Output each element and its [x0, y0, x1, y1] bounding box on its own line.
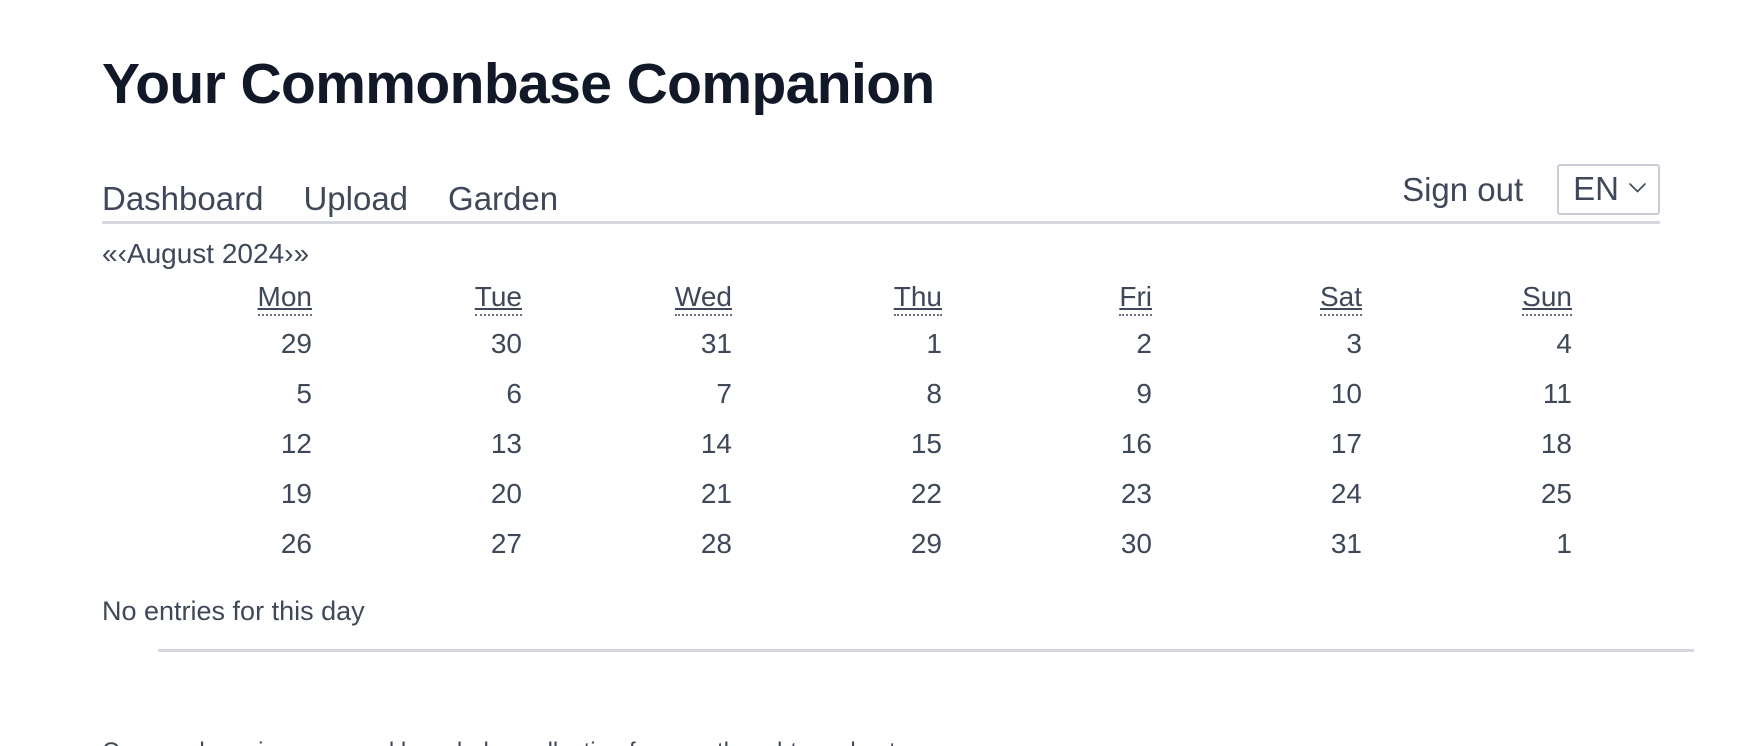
calendar-day-cell[interactable]: 6 [312, 369, 522, 419]
calendar-week-row: 12 13 14 15 16 17 18 [102, 419, 1572, 469]
calendar-weekday-fri: Fri [942, 281, 1152, 319]
calendar-weekday-tue: Tue [312, 281, 522, 319]
calendar-weekday-sun: Sun [1362, 281, 1572, 319]
calendar-day-cell[interactable]: 18 [1362, 419, 1572, 469]
prev-month-button[interactable]: ‹ [118, 238, 127, 269]
calendar-day-cell[interactable]: 17 [1152, 419, 1362, 469]
calendar-day-cell[interactable]: 31 [1152, 519, 1362, 569]
calendar-day-cell[interactable]: 12 [102, 419, 312, 469]
nav-links-group: Dashboard Upload Garden [102, 182, 558, 215]
chevron-down-icon [1629, 183, 1646, 193]
calendar-day-cell[interactable]: 30 [312, 319, 522, 369]
calendar-body: 29 30 31 1 2 3 4 5 6 7 8 9 10 11 12 13 1… [102, 319, 1572, 569]
calendar-day-cell[interactable]: 31 [522, 319, 732, 369]
calendar-day-cell[interactable]: 16 [942, 419, 1152, 469]
calendar-day-cell[interactable]: 23 [942, 469, 1152, 519]
calendar-day-cell[interactable]: 22 [732, 469, 942, 519]
calendar-header: Mon Tue Wed Thu Fri Sat Sun [102, 281, 1572, 319]
calendar-day-cell[interactable]: 20 [312, 469, 522, 519]
calendar-day-cell[interactable]: 14 [522, 419, 732, 469]
language-select[interactable]: EN [1557, 164, 1660, 215]
weekday-abbr: Sat [1320, 281, 1362, 316]
calendar-week-row: 19 20 21 22 23 24 25 [102, 469, 1572, 519]
current-month-label: August 2024 [127, 238, 284, 269]
weekday-abbr: Mon [258, 281, 312, 316]
weekday-abbr: Sun [1522, 281, 1572, 316]
calendar-day-cell[interactable]: 11 [1362, 369, 1572, 419]
calendar-day-cell[interactable]: 3 [1152, 319, 1362, 369]
calendar-week-row: 29 30 31 1 2 3 4 [102, 319, 1572, 369]
calendar-day-cell[interactable]: 28 [522, 519, 732, 569]
footer-text: Commonbase is a personal knowledge colle… [102, 738, 1602, 746]
navigation-bar: Dashboard Upload Garden Sign out EN [102, 164, 1660, 224]
calendar-day-cell[interactable]: 7 [522, 369, 732, 419]
calendar-month-navigation: «‹August 2024›» [102, 236, 1750, 271]
weekday-abbr: Tue [475, 281, 522, 316]
weekday-abbr: Wed [675, 281, 732, 316]
calendar-day-cell[interactable]: 27 [312, 519, 522, 569]
calendar-day-cell[interactable]: 2 [942, 319, 1152, 369]
next-year-button[interactable]: » [293, 238, 309, 269]
calendar-day-cell[interactable]: 30 [942, 519, 1152, 569]
calendar-week-row: 26 27 28 29 30 31 1 [102, 519, 1572, 569]
calendar-day-cell[interactable]: 4 [1362, 319, 1572, 369]
calendar-table: Mon Tue Wed Thu Fri Sat Sun 29 30 31 1 2… [102, 281, 1572, 569]
calendar-day-cell[interactable]: 19 [102, 469, 312, 519]
calendar-week-row: 5 6 7 8 9 10 11 [102, 369, 1572, 419]
calendar-day-cell[interactable]: 1 [1362, 519, 1572, 569]
calendar-day-cell[interactable]: 24 [1152, 469, 1362, 519]
page-title: Your Commonbase Companion [102, 0, 1750, 118]
calendar-weekday-row: Mon Tue Wed Thu Fri Sat Sun [102, 281, 1572, 319]
sign-out-button[interactable]: Sign out [1402, 173, 1523, 206]
calendar-day-cell[interactable]: 25 [1362, 469, 1572, 519]
weekday-abbr: Thu [894, 281, 942, 316]
prev-year-button[interactable]: « [102, 238, 118, 269]
calendar-day-cell[interactable]: 13 [312, 419, 522, 469]
calendar-day-cell[interactable]: 29 [102, 319, 312, 369]
calendar-day-cell[interactable]: 29 [732, 519, 942, 569]
calendar-weekday-thu: Thu [732, 281, 942, 319]
calendar-day-cell[interactable]: 9 [942, 369, 1152, 419]
nav-link-garden[interactable]: Garden [448, 182, 558, 215]
calendar-weekday-wed: Wed [522, 281, 732, 319]
no-entries-message: No entries for this day [102, 595, 1750, 627]
calendar-day-cell[interactable]: 10 [1152, 369, 1362, 419]
calendar-day-cell[interactable]: 5 [102, 369, 312, 419]
nav-link-dashboard[interactable]: Dashboard [102, 182, 263, 215]
nav-link-upload[interactable]: Upload [303, 182, 408, 215]
language-select-value: EN [1573, 172, 1619, 205]
calendar-day-cell[interactable]: 15 [732, 419, 942, 469]
footer-clipped-area: Commonbase is a personal knowledge colle… [102, 738, 1602, 746]
page-root: Your Commonbase Companion Dashboard Uplo… [0, 0, 1750, 746]
calendar-day-cell[interactable]: 21 [522, 469, 732, 519]
calendar-weekday-mon: Mon [102, 281, 312, 319]
calendar-day-cell[interactable]: 1 [732, 319, 942, 369]
calendar-weekday-sat: Sat [1152, 281, 1362, 319]
nav-actions-group: Sign out EN [1402, 164, 1660, 215]
entries-divider [158, 649, 1694, 652]
calendar-day-cell[interactable]: 8 [732, 369, 942, 419]
calendar-day-cell[interactable]: 26 [102, 519, 312, 569]
weekday-abbr: Fri [1119, 281, 1152, 316]
